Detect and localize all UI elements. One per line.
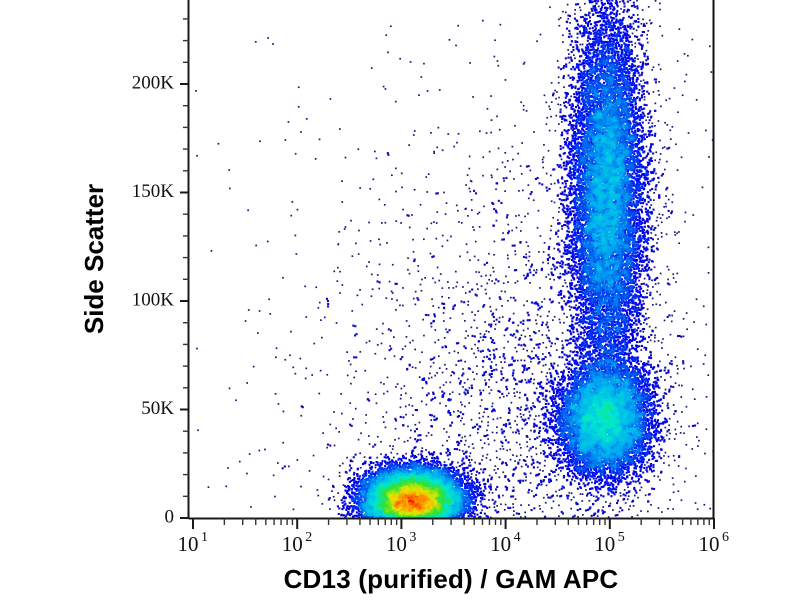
x-tick-label-base: 10	[386, 532, 407, 556]
x-tick-label-base: 10	[178, 532, 199, 556]
flow-cytometry-figure: 050K100K150K200K 101102103104105106 CD13…	[0, 0, 800, 600]
x-tick-label: 106	[699, 530, 730, 556]
y-tick-label: 150K	[132, 181, 175, 202]
x-tick-label: 101	[178, 530, 209, 556]
x-tick-label-base: 10	[699, 532, 720, 556]
y-tick-label: 200K	[132, 72, 175, 93]
plot-canvas: 050K100K150K200K 101102103104105106 CD13…	[0, 0, 800, 600]
x-axis-title: CD13 (purified) / GAM APC	[284, 564, 619, 594]
x-tick-label: 105	[594, 530, 625, 556]
x-tick-label: 104	[490, 530, 520, 556]
x-tick-label-exponent: 2	[305, 530, 312, 545]
x-tick-label-exponent: 6	[722, 530, 729, 545]
x-tick-label-base: 10	[594, 532, 615, 556]
x-axis-tick-labels: 101102103104105106	[178, 530, 730, 556]
x-tick-label-exponent: 3	[409, 530, 416, 545]
x-axis-ticks	[193, 518, 714, 529]
y-axis-title: Side Scatter	[79, 184, 109, 334]
data-point-cloud	[195, 0, 715, 519]
x-tick-label: 103	[386, 530, 417, 556]
y-axis-tick-labels: 050K100K150K200K	[132, 72, 175, 527]
x-tick-label-exponent: 1	[201, 530, 208, 545]
x-tick-label-exponent: 4	[514, 530, 521, 545]
y-tick-label: 0	[165, 506, 175, 527]
x-tick-label-exponent: 5	[618, 530, 625, 545]
x-tick-label-base: 10	[282, 532, 303, 556]
y-tick-label: 100K	[132, 289, 175, 310]
x-tick-label: 102	[282, 530, 313, 556]
y-tick-label: 50K	[141, 398, 174, 419]
x-tick-label-base: 10	[490, 532, 511, 556]
